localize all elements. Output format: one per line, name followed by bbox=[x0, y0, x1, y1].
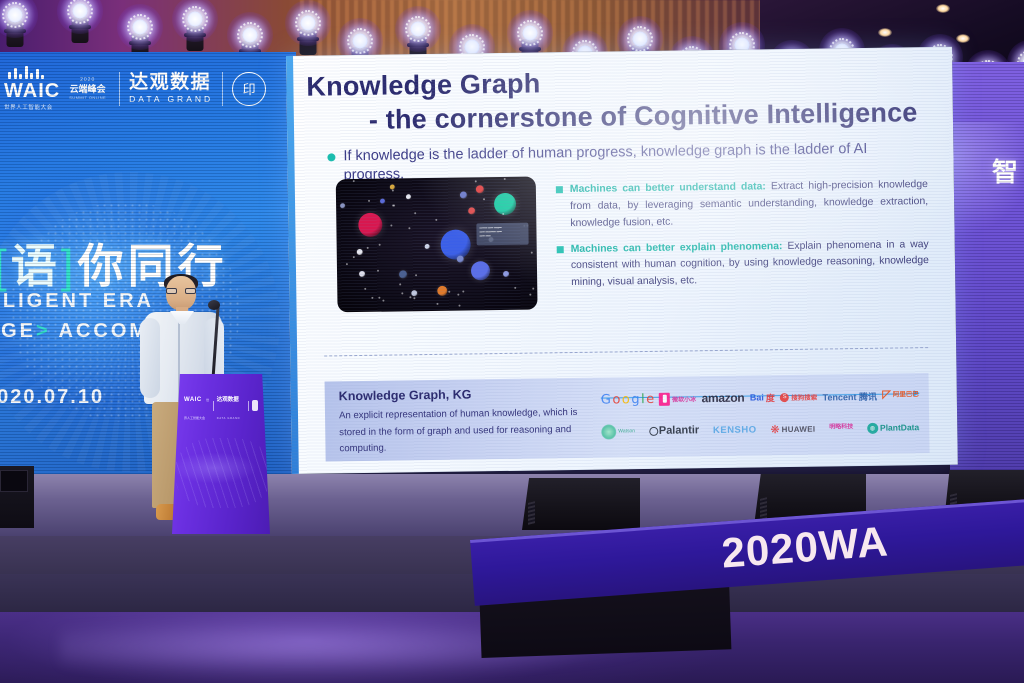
moving-head-light-icon bbox=[288, 0, 328, 46]
ceiling-downlight-icon bbox=[878, 28, 892, 37]
graph-star-dot bbox=[514, 287, 516, 289]
graph-node bbox=[440, 229, 470, 259]
podium-company-en: DATA GRAND bbox=[217, 417, 240, 420]
graph-star-dot bbox=[414, 212, 416, 214]
xiaoice-logo: 微软小冰 bbox=[659, 392, 696, 406]
right-led-panel: 智 bbox=[950, 62, 1024, 482]
tencent-logo: Tencent 腾讯 bbox=[823, 389, 878, 403]
sub-bullet-body: Machines can better understand data: Ext… bbox=[570, 177, 929, 233]
definition-body: An explicit representation of human know… bbox=[339, 405, 598, 458]
graph-node bbox=[471, 261, 490, 280]
front-banner-text: 2020WA bbox=[720, 517, 890, 577]
graph-star-dot bbox=[364, 288, 366, 290]
sub-bullet-separator: : bbox=[762, 181, 766, 192]
seal-logo-icon: 印 bbox=[232, 72, 266, 106]
huawei-flower-icon: ❋ bbox=[770, 423, 779, 436]
graph-star-dot bbox=[532, 288, 534, 290]
amazon-logo: amazon bbox=[701, 391, 744, 406]
sub-bullet-heading: Machines can better explain phenomena bbox=[571, 241, 779, 255]
sogou-label: 搜狗搜索 bbox=[791, 392, 817, 402]
podium-logo-lockup: WAIC 世界人工智能大会 达观数据 DATA GRAND bbox=[184, 398, 258, 413]
graph-star-dot bbox=[448, 291, 450, 293]
podium-waic-block: WAIC 世界人工智能大会 bbox=[184, 388, 210, 424]
slogan-gt-icon: > bbox=[36, 320, 51, 342]
alibaba-mark-icon: ◸ bbox=[882, 389, 891, 403]
graph-star-dot bbox=[435, 219, 437, 221]
company-logo-grid: Google 微软小冰 amazon Bai度 S搜狗搜索 Tencent 腾讯… bbox=[601, 379, 920, 447]
logo-divider bbox=[222, 72, 223, 106]
graph-star-dot bbox=[368, 200, 370, 202]
kensho-logo: KENSHO bbox=[713, 424, 757, 436]
waic-summit-badge: 2020 云端峰会 SUMMIT ONLINE bbox=[65, 74, 110, 103]
mingliao-logo: 明略科技 bbox=[829, 424, 853, 432]
palantir-logo: Palantir bbox=[649, 424, 700, 437]
datagrand-logo: 达观数据 DATA GRAND bbox=[129, 73, 213, 104]
graph-node bbox=[357, 249, 363, 255]
sogou-mark-icon: S bbox=[780, 393, 789, 402]
graph-star-dot bbox=[413, 297, 415, 299]
baidu-logo: Bai度 bbox=[750, 391, 775, 404]
graph-star-dot bbox=[504, 178, 506, 180]
datagrand-english: DATA GRAND bbox=[129, 94, 213, 104]
slogan-key-character: 语 bbox=[11, 240, 61, 292]
watson-label: Watson bbox=[618, 428, 635, 434]
monitor-grill bbox=[528, 501, 535, 525]
waic-chinese-name: 世界人工智能大会 bbox=[4, 103, 53, 111]
moving-head-light-icon bbox=[60, 0, 100, 34]
palantir-mark-icon bbox=[649, 426, 658, 435]
graph-star-dot bbox=[392, 205, 394, 207]
graph-star-dot bbox=[409, 296, 411, 298]
graph-star-dot bbox=[458, 305, 460, 307]
palantir-label: Palantir bbox=[659, 424, 700, 437]
graph-node bbox=[476, 185, 484, 193]
bullet-dot-icon bbox=[327, 153, 335, 161]
right-panel-character: 智 bbox=[992, 152, 1018, 189]
graph-tooltip-panel: ▬▬▬ ▬▬ ▬▬▬▬▬ ▬▬▬▬ ▬▬▬▬ ▬▬ bbox=[476, 223, 528, 246]
moving-head-light-icon bbox=[0, 0, 35, 38]
moving-head-light-icon bbox=[175, 0, 215, 42]
graph-star-dot bbox=[353, 256, 355, 258]
slogan-en2-a: ...AGE bbox=[0, 320, 36, 342]
sub-bullet-heading: Machines can better understand data bbox=[570, 181, 763, 195]
bullet-square-icon bbox=[557, 246, 564, 253]
graph-node bbox=[437, 286, 447, 296]
plantdata-label: PlantData bbox=[880, 422, 919, 433]
moving-head-light-icon bbox=[398, 6, 438, 52]
xiaoice-label: 微软小冰 bbox=[672, 394, 696, 403]
slide-title-line1: Knowledge Graph bbox=[306, 68, 540, 102]
section-divider bbox=[324, 347, 928, 356]
moving-head-light-icon bbox=[120, 4, 160, 50]
podium-datagrand-block: 达观数据 DATA GRAND bbox=[217, 388, 246, 424]
graph-star-dot bbox=[346, 263, 348, 265]
definition-title: Knowledge Graph, KG bbox=[339, 387, 472, 403]
badge-chinese: 云端峰会 bbox=[69, 84, 106, 95]
bracket-open: [ bbox=[0, 240, 11, 292]
sub-bullet-item: Machines can better explain phenomena: E… bbox=[557, 237, 930, 293]
speaker-glasses-icon bbox=[166, 288, 196, 294]
graph-node bbox=[359, 271, 365, 277]
sogou-logo: S搜狗搜索 bbox=[780, 392, 817, 403]
graph-star-dot bbox=[475, 180, 477, 182]
speaker-arm-left bbox=[140, 318, 160, 398]
podium-wave-graphic bbox=[176, 438, 270, 508]
presentation-slide: Knowledge Graph - the cornerstone of Cog… bbox=[286, 47, 958, 474]
graph-node bbox=[340, 203, 345, 208]
bullet-square-icon bbox=[556, 186, 563, 193]
waic-wordmark: WAIC bbox=[4, 81, 60, 101]
waic-bars-icon bbox=[8, 66, 44, 79]
bracket-close: ] bbox=[61, 240, 78, 292]
graph-star-dot bbox=[408, 227, 410, 229]
conference-stage-photo: WAIC 世界人工智能大会 2020 云端峰会 SUMMIT ONLINE 达观… bbox=[0, 0, 1024, 683]
sub-bullet-list: Machines can better understand data: Ext… bbox=[556, 177, 930, 301]
graph-node bbox=[494, 193, 516, 215]
sub-bullet-separator: : bbox=[779, 241, 783, 252]
xiaoice-mark-icon bbox=[659, 392, 670, 405]
graph-star-dot bbox=[462, 291, 464, 293]
graph-node bbox=[411, 290, 417, 296]
graph-star-dot bbox=[371, 297, 373, 299]
graph-star-dot bbox=[436, 303, 438, 305]
datagrand-chinese: 达观数据 bbox=[129, 73, 213, 93]
graph-node bbox=[468, 207, 475, 214]
sub-bullet-body: Machines can better explain phenomena: E… bbox=[571, 237, 930, 293]
speaker-podium: WAIC 世界人工智能大会 达观数据 DATA GRAND bbox=[172, 374, 270, 534]
banner-date: 2020.07.10 bbox=[0, 386, 104, 409]
alibaba-logo: ◸阿里巴巴 bbox=[882, 388, 919, 402]
huawei-label: HUAWEI bbox=[782, 424, 816, 433]
graph-star-dot bbox=[457, 294, 459, 296]
huawei-logo: ❋HUAWEI bbox=[770, 422, 815, 436]
stage-monitor-wedge bbox=[522, 478, 640, 530]
plantdata-logo: ◍PlantData bbox=[867, 422, 919, 434]
graph-node bbox=[503, 271, 509, 277]
logo-row-1: Google 微软小冰 amazon Bai度 S搜狗搜索 Tencent 腾讯… bbox=[601, 379, 919, 415]
podium-company-cn: 达观数据 bbox=[217, 397, 239, 403]
ibm-watson-logo: Watson bbox=[601, 424, 635, 439]
google-logo: Google bbox=[601, 391, 654, 407]
graph-node bbox=[457, 256, 464, 263]
podium-waic-text: WAIC bbox=[184, 397, 202, 403]
slide-title-line2: - the cornerstone of Cognitive Intellige… bbox=[369, 97, 918, 136]
graph-star-dot bbox=[399, 283, 401, 285]
podium-seal-icon bbox=[252, 400, 258, 411]
graph-star-dot bbox=[483, 198, 485, 200]
knowledge-graph-visualization: ▬▬▬ ▬▬ ▬▬▬▬▬ ▬▬▬▬ ▬▬▬▬ ▬▬ bbox=[336, 177, 538, 313]
logo-divider bbox=[119, 72, 120, 106]
definition-box: Knowledge Graph, KG An explicit represen… bbox=[325, 373, 930, 461]
microphone-head-icon bbox=[208, 300, 220, 310]
graph-star-dot bbox=[390, 225, 392, 227]
alibaba-label: 阿里巴巴 bbox=[893, 391, 919, 399]
sub-bullet-item: Machines can better understand data: Ext… bbox=[556, 177, 929, 233]
graph-node bbox=[358, 213, 382, 237]
logo-row-2: Watson Palantir KENSHO ❋HUAWEI 明略科技 ◍Pla… bbox=[601, 411, 919, 447]
badge-english: SUMMIT ONLINE bbox=[69, 95, 106, 100]
graph-star-dot bbox=[378, 297, 380, 299]
graph-node bbox=[425, 244, 430, 249]
moving-head-light-icon bbox=[510, 10, 550, 56]
graph-star-dot bbox=[502, 213, 504, 215]
ceiling-downlight-icon bbox=[936, 4, 950, 13]
event-logo-lockup: WAIC 世界人工智能大会 2020 云端峰会 SUMMIT ONLINE 达观… bbox=[4, 66, 266, 111]
graph-star-dot bbox=[401, 292, 403, 294]
graph-star-dot bbox=[382, 300, 384, 302]
graph-star-dot bbox=[379, 244, 381, 246]
banner-slogan-en-line1: ...LLIGENT ERA bbox=[0, 290, 154, 313]
graph-star-dot bbox=[415, 274, 417, 276]
graph-star-dot bbox=[529, 294, 531, 296]
graph-star-dot bbox=[377, 270, 379, 272]
graph-star-dot bbox=[392, 190, 394, 192]
graph-star-dot bbox=[531, 252, 533, 254]
graph-node bbox=[406, 194, 411, 199]
left-monitor-screen bbox=[0, 470, 28, 492]
graph-node bbox=[460, 191, 467, 198]
watson-mark-icon bbox=[601, 424, 616, 439]
graph-node bbox=[399, 270, 407, 278]
graph-star-dot bbox=[367, 247, 369, 249]
graph-node bbox=[380, 199, 385, 204]
projection-screen: Knowledge Graph - the cornerstone of Cog… bbox=[286, 47, 958, 474]
waic-logo: WAIC 世界人工智能大会 bbox=[4, 66, 60, 111]
plantdata-mark-icon: ◍ bbox=[867, 422, 878, 433]
graph-star-dot bbox=[353, 180, 355, 182]
